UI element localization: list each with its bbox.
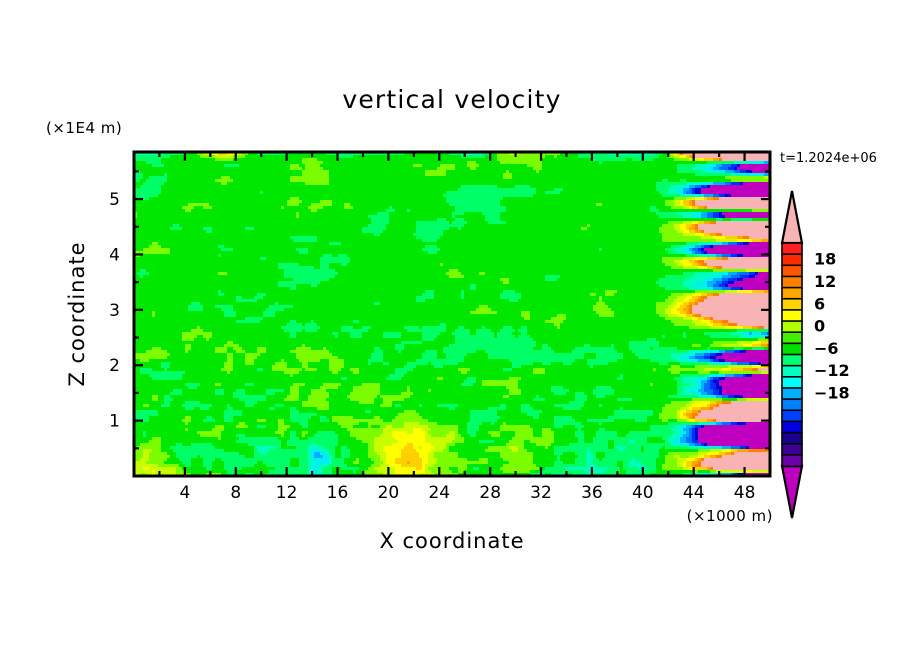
colorbar-tick-label: 0 [814, 317, 825, 336]
colorbar-band [782, 276, 802, 288]
colorbar-band [782, 310, 802, 322]
x-tick-label: 32 [530, 483, 552, 503]
colorbar-tick-label: −12 [814, 361, 850, 380]
y-tick-label: 3 [109, 301, 120, 321]
timestamp-label: t=1.2024e+06 [780, 151, 877, 166]
colorbar-band [782, 332, 802, 344]
x-tick-label: 24 [428, 483, 450, 503]
colorbar-band [782, 455, 802, 467]
colorbar-band [782, 366, 802, 378]
colorbar-tick-label: −6 [814, 339, 839, 358]
x-tick-label: 28 [479, 483, 501, 503]
colorbar-band [782, 421, 802, 433]
colorbar-band [782, 343, 802, 355]
y-tick-label: 5 [109, 190, 120, 210]
colorbar-band [782, 243, 802, 255]
x-axis-title: X coordinate [379, 529, 524, 553]
colorbar-band [782, 399, 802, 411]
x-tick-label: 4 [179, 483, 190, 503]
x-tick-label: 16 [327, 483, 349, 503]
colorbar-tick-label: 6 [814, 294, 825, 313]
colorbar-band [782, 288, 802, 300]
colorbar-band [782, 433, 802, 445]
y-tick-label: 2 [109, 356, 120, 376]
y-tick-label: 4 [109, 246, 120, 266]
plot-title: vertical velocity [342, 85, 561, 114]
colorbar-band [782, 388, 802, 400]
contour-field [134, 152, 770, 477]
x-tick-label: 12 [276, 483, 298, 503]
colorbar-band [782, 410, 802, 422]
colorbar-band [782, 321, 802, 333]
x-tick-label: 40 [632, 483, 654, 503]
x-tick-label: 36 [581, 483, 603, 503]
colorbar-band [782, 355, 802, 367]
x-tick-label: 44 [683, 483, 705, 503]
x-tick-label: 8 [230, 483, 241, 503]
x-unit-label: (×1000 m) [687, 507, 773, 525]
colorbar-band [782, 254, 802, 266]
colorbar-tick-label: −18 [814, 384, 850, 403]
y-axis-title: Z coordinate [65, 241, 89, 386]
colorbar-band [782, 444, 802, 456]
x-tick-label: 20 [378, 483, 400, 503]
colorbar-band [782, 299, 802, 311]
y-tick-label: 1 [109, 412, 120, 432]
colorbar-band [782, 265, 802, 277]
colorbar-tick-label: 12 [814, 272, 836, 291]
x-tick-label: 48 [734, 483, 756, 503]
y-unit-label: (×1E4 m) [46, 119, 122, 137]
colorbar-tick-label: 18 [814, 250, 836, 269]
figure-canvas: 481216202428323640444812345vertical velo… [0, 0, 904, 654]
colorbar-band [782, 377, 802, 389]
